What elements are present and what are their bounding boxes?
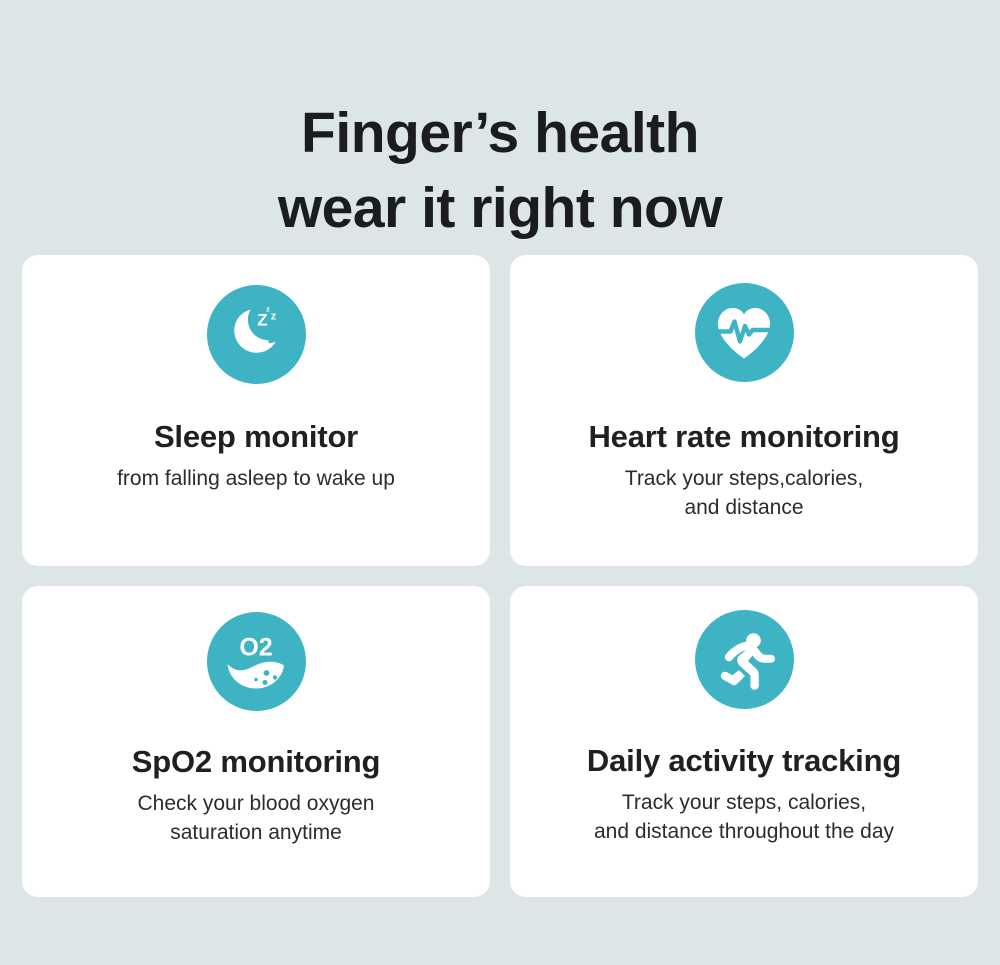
- feature-card-description: from falling asleep to wake up: [93, 465, 419, 494]
- feature-card-spo2[interactable]: O2 SpO2 monitoring Check your blood oxyg…: [22, 586, 490, 897]
- page-title: Finger’s health wear it right now: [0, 96, 1000, 246]
- blood-oxygen-o2-icon: O2: [207, 612, 306, 711]
- feature-card-description-line-1: Track your steps,calories,: [625, 465, 863, 494]
- svg-text:z: z: [271, 310, 277, 322]
- feature-card-title: SpO2 monitoring: [132, 744, 380, 780]
- page-title-line-2: wear it right now: [0, 171, 1000, 246]
- feature-card-description-line-1: Check your blood oxygen: [138, 790, 375, 819]
- feature-card-description: Track your steps,calories, and distance: [601, 465, 887, 523]
- feature-card-heart-rate[interactable]: Heart rate monitoring Track your steps,c…: [510, 255, 978, 566]
- page-title-line-1: Finger’s health: [0, 96, 1000, 171]
- feature-card-title: Sleep monitor: [154, 419, 358, 455]
- feature-card-description: Check your blood oxygen saturation anyti…: [114, 790, 399, 848]
- feature-card-description-line-2: and distance throughout the day: [594, 818, 894, 847]
- feature-card-description-line-2: and distance: [625, 494, 863, 523]
- feature-card-description: Track your steps, calories, and distance…: [570, 789, 918, 847]
- feature-card-description-line-2: saturation anytime: [138, 819, 375, 848]
- svg-text:z: z: [266, 306, 270, 313]
- feature-card-title: Heart rate monitoring: [588, 419, 899, 455]
- feature-card-sleep-monitor[interactable]: Z z z Sleep monitor from falling asleep …: [22, 255, 490, 566]
- feature-card-grid: Z z z Sleep monitor from falling asleep …: [22, 255, 978, 897]
- promo-feature-page: Finger’s health wear it right now Z z z …: [0, 0, 1000, 965]
- feature-card-description-line-1: from falling asleep to wake up: [117, 465, 395, 494]
- sleep-moon-zzz-icon: Z z z: [207, 285, 306, 384]
- heart-rate-pulse-icon: [695, 283, 794, 382]
- running-person-icon: [695, 610, 794, 709]
- feature-card-daily-activity[interactable]: Daily activity tracking Track your steps…: [510, 586, 978, 897]
- feature-card-title: Daily activity tracking: [587, 743, 901, 779]
- feature-card-description-line-1: Track your steps, calories,: [594, 789, 894, 818]
- svg-text:O2: O2: [239, 633, 272, 661]
